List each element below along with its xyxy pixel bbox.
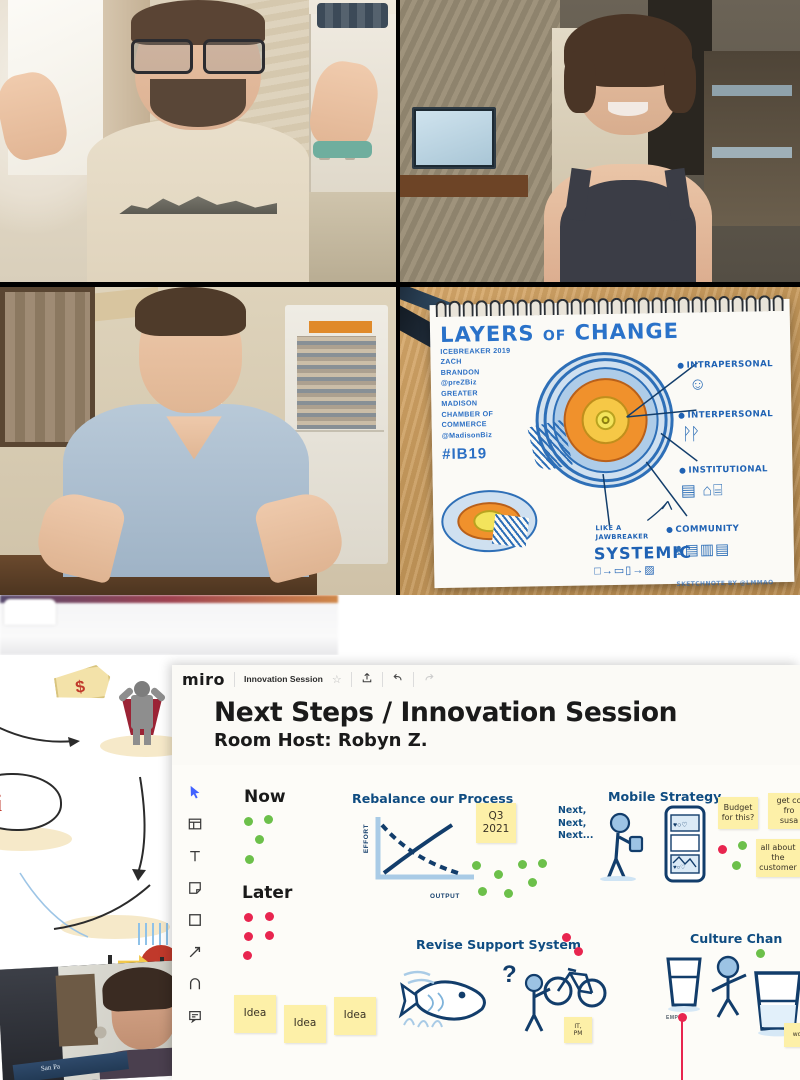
shelf	[55, 974, 98, 1047]
participant-caption: San Pa	[40, 1062, 60, 1072]
participant-2-video	[400, 0, 800, 282]
board-subtitle: Room Host: Robyn Z.	[214, 730, 677, 751]
divider	[382, 672, 383, 687]
vote-dot-green[interactable]	[264, 815, 273, 824]
fish-icon	[398, 965, 508, 1035]
monitor	[412, 107, 496, 169]
two-people-icon: ᚹᚹ	[682, 425, 699, 445]
person-icon: ☺	[689, 375, 707, 395]
chart-y-axis-label: EFFORT	[363, 824, 370, 853]
sticky-it-pm[interactable]: IT,PM	[564, 1017, 592, 1043]
smile	[608, 102, 648, 116]
shelf-objects	[317, 3, 388, 28]
vote-dot-red[interactable]	[718, 845, 727, 854]
building-icon: ▤ ⌂⌸	[681, 480, 724, 501]
meta-line-4: GREATER	[441, 388, 478, 398]
meta-line-6: CHAMBER OF	[441, 409, 493, 419]
vote-dot-green[interactable]	[255, 835, 264, 844]
layer-text: COMMUNITY	[675, 524, 739, 535]
vote-dot-red[interactable]	[243, 951, 252, 960]
meta-line-2: BRANDON	[441, 368, 480, 378]
sketchnote-title-of: OF	[543, 328, 567, 344]
layer-bullet	[678, 363, 684, 369]
miro-logo[interactable]: miro	[182, 670, 225, 689]
divider	[413, 672, 414, 687]
vote-dot-red[interactable]	[244, 913, 253, 922]
miro-window[interactable]: miro Innovation Session ☆	[172, 665, 800, 1080]
vote-dot-green[interactable]	[756, 949, 765, 958]
video-grid: LAYERS OF CHANGE ICEBREAKER 2019 ZACH BR…	[0, 0, 800, 595]
section-heading-culture: Culture Chan	[690, 931, 782, 946]
vote-dot-green[interactable]	[732, 861, 741, 870]
bunk-bed	[704, 51, 800, 226]
sticky-wo[interactable]: wo	[784, 1023, 800, 1047]
vote-dot-red[interactable]	[574, 947, 583, 956]
hair	[135, 287, 246, 336]
browser-chrome	[0, 595, 338, 655]
sketchnote-meta: ICEBREAKER 2019 ZACH BRANDON @preZBiz GR…	[440, 346, 512, 466]
cross-hatch	[492, 514, 529, 548]
layer-label-community: COMMUNITY	[675, 524, 739, 535]
bunk-rail	[712, 85, 792, 96]
systemic-label: SYSTEMIC	[594, 543, 692, 564]
desk-surface: LAYERS OF CHANGE ICEBREAKER 2019 ZACH BR…	[400, 287, 800, 595]
section-heading-mobile: Mobile Strategy	[608, 789, 721, 804]
undo-icon[interactable]	[392, 672, 404, 687]
person-with-phone-icon	[594, 809, 656, 881]
vote-dot-red[interactable]	[265, 912, 274, 921]
template-tool[interactable]	[186, 815, 204, 833]
effort-output-chart	[356, 813, 484, 891]
star-icon[interactable]: ☆	[332, 673, 342, 686]
fridge-note	[309, 321, 372, 333]
vote-dot-red[interactable]	[562, 933, 571, 942]
sticky-get-co[interactable]: get cofrosusa	[768, 793, 800, 829]
sticky-all-about-customer[interactable]: all aboutthecustomer	[756, 839, 800, 877]
meta-line-3: @preZBiz	[441, 378, 477, 388]
meta-line-1: ZACH	[440, 357, 461, 366]
person-icon	[708, 953, 756, 1019]
sticky-idea-1[interactable]: Idea	[234, 995, 276, 1033]
layer-label-interpersonal: INTERPERSONAL	[687, 410, 773, 421]
layer-bullet	[679, 468, 685, 474]
participant-tile-3[interactable]	[0, 287, 396, 595]
sketchnote-pad: LAYERS OF CHANGE ICEBREAKER 2019 ZACH BR…	[430, 299, 795, 589]
layer-text: INTERPERSONAL	[687, 410, 773, 421]
hair-side-right	[664, 51, 696, 113]
vote-dot-green[interactable]	[244, 817, 253, 826]
bunk-rail-lower	[712, 147, 792, 158]
chart-svg	[356, 813, 484, 891]
annotation-next-next-next: Next,Next,Next...	[558, 805, 593, 843]
layer-bullet	[678, 413, 684, 419]
wristband	[313, 141, 372, 158]
vote-dot-red[interactable]	[265, 931, 274, 940]
layer-text: INSTITUTIONAL	[688, 465, 768, 476]
beard	[150, 79, 245, 127]
section-heading-support: Revise Support System	[416, 937, 581, 952]
layer-label-institutional: INSTITUTIONAL	[688, 465, 768, 476]
redo-icon[interactable]	[423, 672, 435, 687]
participant-3-video	[0, 287, 396, 595]
svg-text:♥○♡: ♥○♡	[673, 864, 686, 871]
mini-participant-tile[interactable]: San Pa	[0, 960, 183, 1080]
door-knob	[94, 1026, 107, 1039]
hair-side-left	[564, 51, 596, 113]
participant-1-video	[0, 0, 396, 282]
chart-x-axis-label: OUTPUT	[430, 893, 460, 900]
cursor-tool[interactable]	[186, 783, 204, 801]
meta-line-0: ICEBREAKER 2019	[440, 346, 510, 356]
desk	[400, 175, 528, 198]
sketchnote-hashtag: #IB19	[442, 443, 512, 466]
share-icon[interactable]	[361, 672, 373, 687]
vote-dot-green[interactable]	[738, 841, 747, 850]
bicycle-icon	[542, 957, 608, 1013]
sketchnote-title: LAYERS OF CHANGE	[440, 317, 782, 347]
shape-tool[interactable]	[186, 911, 204, 929]
board-title: Next Steps / Innovation Session	[214, 697, 677, 728]
meta-line-5: MADISON	[441, 399, 477, 409]
layer-label-intrapersonal: INTRAPERSONAL	[687, 360, 773, 372]
legend-now-label: Now	[244, 787, 286, 807]
vote-dot-green[interactable]	[518, 860, 527, 869]
jawbreaker-note: LIKE AJAWBREAKER	[595, 524, 648, 542]
sketchnote-content: LAYERS OF CHANGE ICEBREAKER 2019 ZACH BR…	[430, 299, 795, 589]
shared-screen-area: $ Ai	[0, 595, 800, 1080]
comment-tool[interactable]	[186, 1007, 204, 1025]
vote-dot-red[interactable]	[244, 932, 253, 941]
meta-line-7: COMMERCE	[442, 420, 487, 430]
arrow-tool[interactable]	[186, 943, 204, 961]
eyeglasses	[131, 39, 266, 67]
vote-dot-green[interactable]	[478, 887, 487, 896]
divider	[234, 672, 235, 687]
sticky-budget[interactable]: Budgetfor this?	[718, 797, 758, 829]
sketchnote-tile[interactable]: LAYERS OF CHANGE ICEBREAKER 2019 ZACH BR…	[400, 287, 800, 595]
board-file-name[interactable]: Innovation Session	[244, 674, 323, 684]
sticky-q3-2021[interactable]: Q32021	[476, 803, 516, 843]
glass-empty-icon	[662, 955, 706, 1013]
vote-dot-green[interactable]	[472, 861, 481, 870]
meta-line-8: @MadisonBiz	[442, 430, 492, 440]
sticky-idea-2[interactable]: Idea	[284, 1005, 326, 1043]
miro-canvas[interactable]: Now Later Rebalance our Process	[172, 765, 800, 1080]
jawbreaker-cross-section	[441, 490, 538, 554]
sticky-note-tool[interactable]	[186, 879, 204, 897]
board-title-block: Next Steps / Innovation Session Room Hos…	[214, 697, 677, 751]
miro-header: miro Innovation Session ☆	[172, 665, 800, 693]
vote-dot-green[interactable]	[494, 870, 503, 879]
systemic-flow-icons: □→▭▯→▨	[594, 564, 656, 578]
participant-tile-2[interactable]	[400, 0, 800, 282]
layer-bullet	[666, 527, 672, 533]
legend-later-label: Later	[242, 883, 292, 903]
svg-text:♥○♡: ♥○♡	[673, 821, 688, 829]
connector-line	[672, 1017, 692, 1080]
fridge-magnets	[297, 336, 376, 428]
vote-dot-green[interactable]	[245, 855, 254, 864]
smartphone-icon: ♥○♡ ♥○♡	[662, 805, 708, 883]
hair	[131, 0, 266, 45]
vote-dot-green[interactable]	[538, 859, 547, 868]
vote-dot-green[interactable]	[528, 878, 537, 887]
miro-toolbar[interactable]	[182, 783, 208, 1025]
pen-tool[interactable]	[186, 975, 204, 993]
divider	[351, 672, 352, 687]
layer-text: INTRAPERSONAL	[687, 360, 773, 372]
wall-art	[0, 287, 95, 447]
text-tool[interactable]	[186, 847, 204, 865]
vote-dot-green[interactable]	[504, 889, 513, 898]
browser-tab[interactable]	[4, 599, 56, 625]
sticky-idea-3[interactable]: Idea	[334, 997, 376, 1035]
participant-tile-1[interactable]	[0, 0, 396, 282]
